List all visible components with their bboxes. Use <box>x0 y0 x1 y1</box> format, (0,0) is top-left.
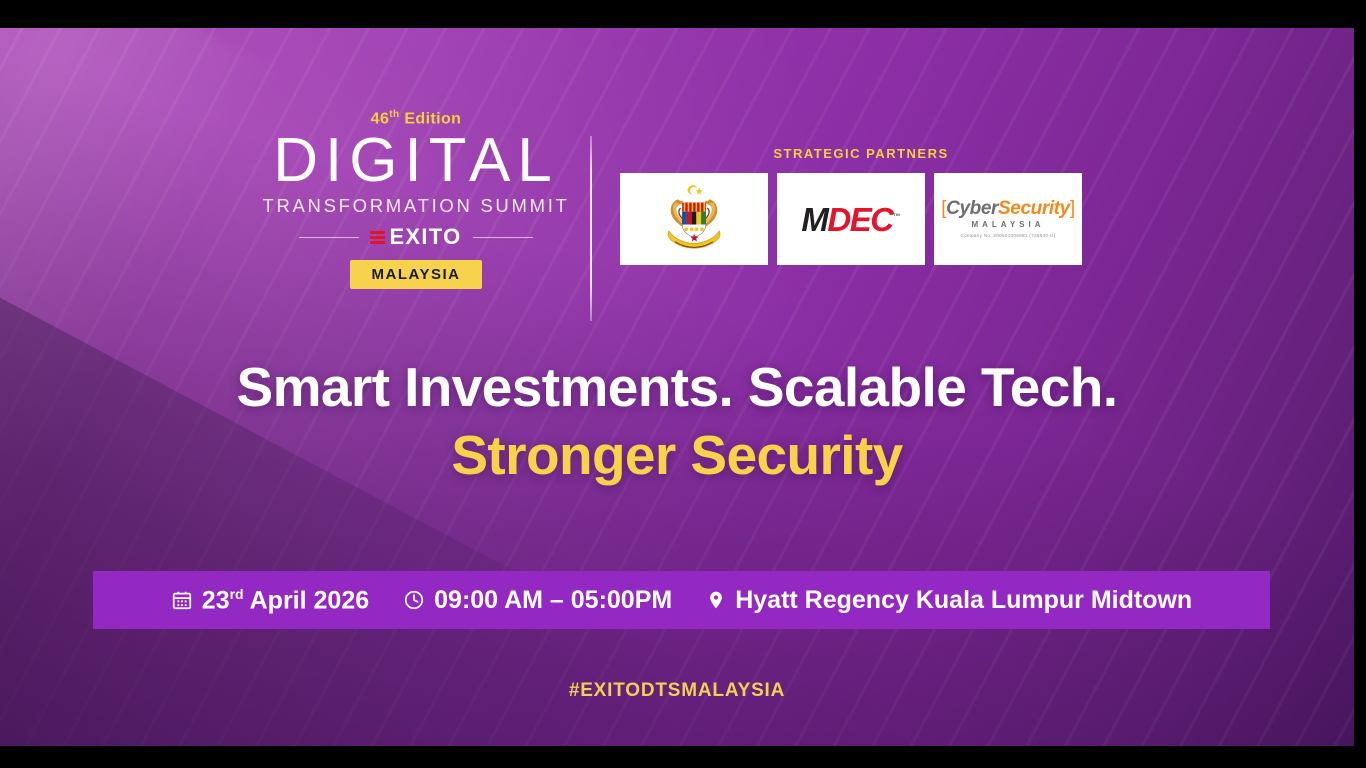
event-info-bar: 23rd April 2026 09:00 AM – 05:00PM <box>93 571 1270 629</box>
mdec-letters-dec: DEC <box>827 201 892 238</box>
csm-word-security: Security <box>998 198 1070 219</box>
event-hashtag: #EXITODTSMALAYSIA <box>0 680 1354 702</box>
letterbox-bar-bottom <box>0 746 1366 768</box>
event-venue-item: Hyatt Regency Kuala Lumpur Midtown <box>706 588 1192 613</box>
event-title: DIGITAL <box>258 131 574 191</box>
date-suffix: rd <box>230 586 244 602</box>
csm-registration: Company No. 200601006881 (726630-U) <box>941 234 1074 239</box>
banner-header: 46th Edition DIGITAL TRANSFORMATION SUMM… <box>0 28 1354 328</box>
event-venue-text: Hyatt Regency Kuala Lumpur Midtown <box>735 588 1192 613</box>
date-rest: April 2026 <box>244 586 370 614</box>
csm-bracket-close: ] <box>1070 198 1075 219</box>
cybersecurity-malaysia-wordmark: [CyberSecurity] MALAYSIA Company No. 200… <box>941 199 1074 239</box>
partner-logo-row: MDEC™ [CyberSecurity] MALAYSIA Company N… <box>620 173 1102 265</box>
edition-label: 46th Edition <box>258 110 574 127</box>
event-subtitle: TRANSFORMATION SUMMIT <box>258 197 574 216</box>
trademark-symbol: ™ <box>893 212 901 221</box>
mdec-letter-m: M <box>801 201 827 238</box>
calendar-icon <box>171 589 193 611</box>
headline-line-1: Smart Investments. Scalable Tech. <box>0 358 1354 416</box>
partner-logo-cybersecurity-malaysia: [CyberSecurity] MALAYSIA Company No. 200… <box>934 173 1082 265</box>
letterbox-bar-right <box>1354 0 1366 768</box>
strategic-partners-section: STRATEGIC PARTNERS <box>620 146 1102 265</box>
exito-wordmark: EXITO <box>389 226 461 248</box>
banner-artwork: 46th Edition DIGITAL TRANSFORMATION SUMM… <box>0 28 1354 746</box>
divider-line-right <box>473 237 533 238</box>
date-day: 23 <box>202 586 230 614</box>
vertical-divider <box>590 136 592 321</box>
divider-line-left <box>299 237 359 238</box>
headline-line-2: Stronger Security <box>0 426 1354 484</box>
event-date-text: 23rd April 2026 <box>202 587 369 613</box>
country-badge: MALAYSIA <box>350 260 483 289</box>
location-pin-icon <box>706 588 726 612</box>
partner-logo-malaysia-coat-of-arms <box>620 173 768 265</box>
event-time-item: 09:00 AM – 05:00PM <box>403 588 672 613</box>
event-date-item: 23rd April 2026 <box>171 587 369 613</box>
event-time-text: 09:00 AM – 05:00PM <box>434 588 672 613</box>
edition-number: 46 <box>371 110 390 127</box>
mdec-wordmark: MDEC™ <box>801 203 900 236</box>
banner-stage: 46th Edition DIGITAL TRANSFORMATION SUMM… <box>0 0 1366 768</box>
csm-country: MALAYSIA <box>941 221 1074 229</box>
letterbox-bar-top <box>0 0 1366 28</box>
strategic-partners-label: STRATEGIC PARTNERS <box>620 146 1102 161</box>
edition-suffix: th <box>389 109 399 120</box>
headline-block: Smart Investments. Scalable Tech. Strong… <box>0 358 1354 485</box>
malaysia-coat-of-arms-icon <box>654 182 734 256</box>
organizer-row: EXITO <box>258 226 574 248</box>
exito-bars-icon <box>370 231 385 244</box>
csm-main-row: [CyberSecurity] <box>941 198 1074 219</box>
csm-word-cyber: Cyber <box>946 198 998 219</box>
exito-logo: EXITO <box>370 226 461 248</box>
clock-icon <box>403 589 425 611</box>
edition-word: Edition <box>400 110 462 127</box>
partner-logo-mdec: MDEC™ <box>777 173 925 265</box>
event-brand-lockup: 46th Edition DIGITAL TRANSFORMATION SUMM… <box>258 110 574 289</box>
